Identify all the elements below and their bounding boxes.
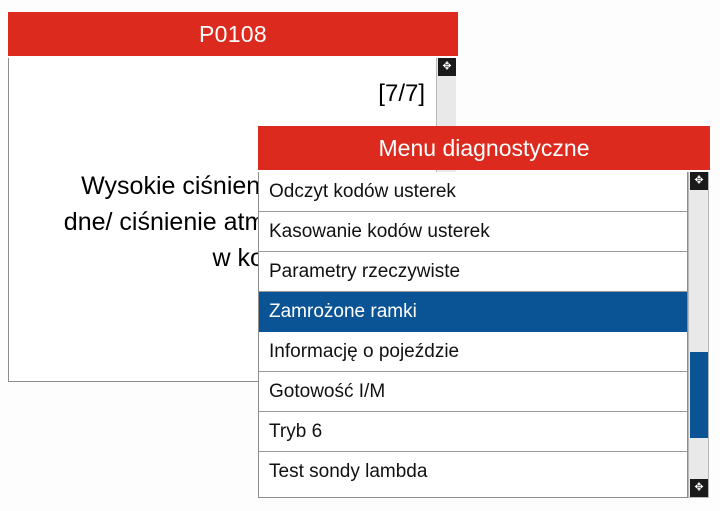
menu-item-vehicle-info[interactable]: Informację o pojeździe [259, 332, 687, 372]
menu-item-label: Odczyt kodów usterek [269, 181, 456, 203]
menu-item-label: Informację o pojeździe [269, 341, 459, 363]
trouble-code-title-bar: P0108 [8, 12, 458, 56]
scroll-down-arrow-icon[interactable]: ✥ [690, 479, 708, 497]
menu-item-o2-sensor-test[interactable]: Test sondy lambda [259, 452, 687, 492]
menu-item-label: Tryb 6 [269, 421, 322, 443]
trouble-code-title: P0108 [199, 21, 267, 48]
scroll-thumb[interactable] [690, 352, 708, 438]
diagnostic-menu-window: Menu diagnostyczne Odczyt kodów usterek … [258, 126, 710, 498]
diagnostic-menu-scrollbar[interactable]: ✥ ✥ [688, 172, 709, 498]
menu-item-live-data[interactable]: Parametry rzeczywiste [259, 252, 687, 292]
menu-item-label: Kasowanie kodów usterek [269, 221, 490, 243]
menu-item-label: Parametry rzeczywiste [269, 261, 460, 283]
diagnostic-menu-list: Odczyt kodów usterek Kasowanie kodów ust… [258, 172, 688, 498]
menu-item-mode-6[interactable]: Tryb 6 [259, 412, 687, 452]
menu-item-erase-codes[interactable]: Kasowanie kodów usterek [259, 212, 687, 252]
menu-item-label: Test sondy lambda [269, 461, 427, 483]
scroll-up-arrow-icon[interactable]: ✥ [438, 58, 456, 76]
menu-item-read-codes[interactable]: Odczyt kodów usterek [259, 172, 687, 212]
arrow-glyph: ✥ [442, 62, 451, 73]
menu-item-im-readiness[interactable]: Gotowość I/M [259, 372, 687, 412]
page-indicator: [7/7] [378, 80, 425, 108]
menu-item-freeze-frame[interactable]: Zamrożone ramki [259, 292, 687, 332]
diagnostic-menu-title-bar: Menu diagnostyczne [258, 126, 710, 170]
arrow-glyph: ✥ [694, 176, 703, 187]
diagnostic-menu-title: Menu diagnostyczne [379, 135, 590, 162]
menu-item-label: Gotowość I/M [269, 381, 385, 403]
menu-item-label: Zamrożone ramki [269, 301, 417, 323]
arrow-glyph: ✥ [694, 483, 703, 494]
scroll-up-arrow-icon[interactable]: ✥ [690, 172, 708, 190]
